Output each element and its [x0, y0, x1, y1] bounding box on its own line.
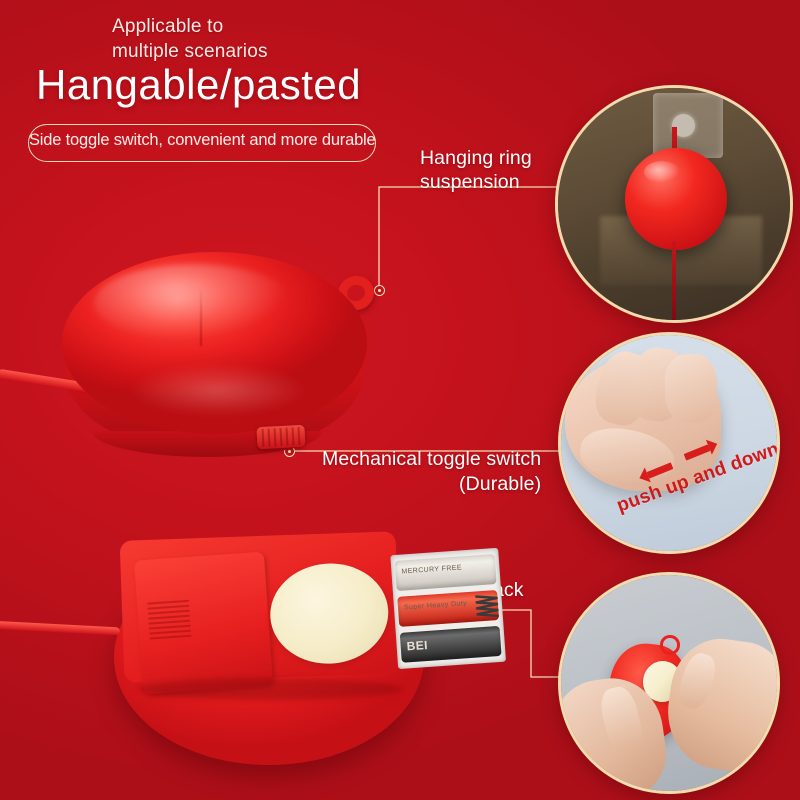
battery-label: BEI — [406, 638, 428, 653]
callout-label-hanging-ring: Hanging ring suspension — [420, 146, 532, 195]
photo-ball-hanging-on-hook — [555, 85, 793, 323]
callout-label-toggle-switch-main: Mechanical toggle switch — [322, 448, 541, 470]
battery-label: MERCURY FREE — [401, 564, 462, 575]
battery-cell: MERCURY FREE — [395, 554, 497, 591]
battery-label: Super Heavy Duty — [404, 600, 468, 611]
adhesive-pad — [267, 560, 392, 668]
product-seam — [200, 288, 202, 346]
finger — [663, 354, 717, 425]
photo-hand-pushing-switch: push up and down — [558, 332, 780, 554]
product-back-shadow — [138, 678, 402, 700]
product-infographic-poster: Applicable to multiple scenarios Hangabl… — [0, 0, 800, 800]
callout-dot-hanging-ring — [374, 285, 385, 296]
cover-grip-ribs — [147, 600, 192, 647]
product-highlight-lower — [128, 364, 308, 416]
callout-label-toggle-switch: Mechanical toggle switch (Durable) — [322, 423, 541, 521]
product-back-plate: MERCURY FREE Super Heavy Duty BEI — [120, 531, 401, 683]
callout-label-toggle-switch-sub: (Durable) — [322, 472, 541, 496]
battery-spring-icon — [473, 592, 501, 620]
battery-cell: BEI — [400, 626, 502, 663]
red-ball — [625, 148, 727, 250]
product-highlight — [94, 264, 294, 342]
mechanical-toggle-switch[interactable] — [256, 425, 305, 449]
photo-peeling-adhesive-pad — [558, 572, 780, 794]
battery-compartment: MERCURY FREE Super Heavy Duty BEI — [390, 548, 506, 669]
device-hanging-ring — [660, 635, 679, 654]
ball-pull-cord — [672, 241, 676, 320]
